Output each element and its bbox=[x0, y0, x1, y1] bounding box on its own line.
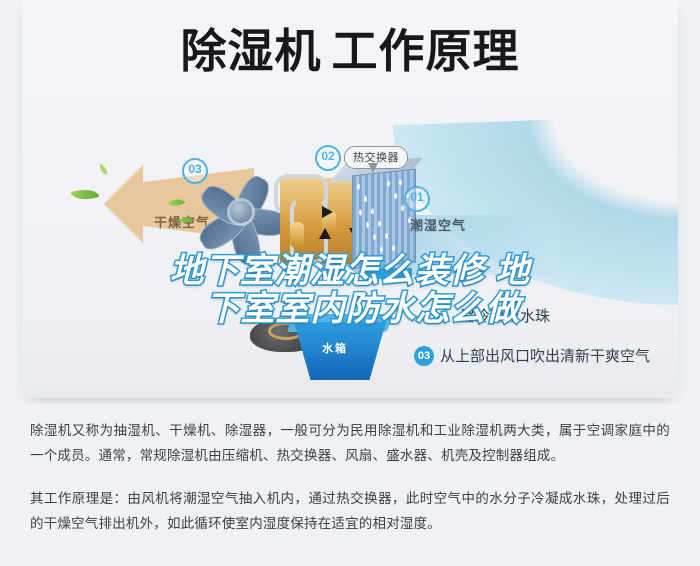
humid-air-label: 潮湿空气 bbox=[410, 215, 466, 234]
coil-cylinder bbox=[290, 222, 304, 248]
leaf-icon bbox=[71, 184, 100, 204]
heat-exchanger-fins bbox=[352, 169, 416, 270]
dehumidifier-infographic: 除湿机工作原理 干燥空气 热交换器 03 02 0 bbox=[0, 0, 700, 404]
article-paragraph-2: 其工作原理是：由风机将潮湿空气抽入机内，通过热交换器，此时空气中的水分子冷凝成水… bbox=[30, 486, 670, 536]
condensation-droplet bbox=[380, 246, 383, 252]
condensation-droplet bbox=[392, 245, 395, 251]
condensation-droplet bbox=[378, 220, 381, 226]
condensation-droplet bbox=[385, 233, 388, 239]
article-body: 除湿机又称为抽湿机、干燥机、除湿器，一般可分为民用除湿机和工业除湿机两大类，属于… bbox=[0, 418, 700, 554]
water-tank-label: 水箱 bbox=[322, 340, 348, 356]
step-3-caption-text: 从上部出风口吹出清新干爽空气 bbox=[440, 345, 650, 366]
step-badge-03: 03 bbox=[182, 158, 208, 184]
step-badge-01: 01 bbox=[404, 186, 430, 212]
page-title: 除湿机工作原理 bbox=[22, 28, 678, 74]
flow-arrow-up-icon bbox=[319, 228, 331, 239]
title-part-2: 工作原理 bbox=[332, 25, 520, 77]
condensation-droplet bbox=[371, 208, 374, 214]
callout-pointer-icon bbox=[368, 163, 378, 173]
step-3-caption: 03 从上部出风口吹出清新干爽空气 bbox=[414, 345, 650, 366]
article-paragraph-1: 除湿机又称为抽湿机、干燥机、除湿器，一般可分为民用除湿机和工业除湿机两大类，属于… bbox=[30, 418, 670, 468]
condensation-droplet bbox=[387, 180, 390, 186]
step-badge-03-filled: 03 bbox=[414, 346, 434, 366]
condensation-droplet bbox=[359, 209, 362, 215]
step-2-caption: 器冷凝成水珠 bbox=[460, 305, 550, 326]
step-badge-02: 02 bbox=[315, 145, 341, 171]
condensation-droplet bbox=[373, 234, 376, 240]
air-inlet-arrow-icon bbox=[378, 268, 412, 279]
leaf-icon bbox=[97, 164, 110, 176]
condensation-droplet bbox=[401, 205, 404, 211]
condensation-droplet bbox=[366, 222, 369, 228]
flow-arrow-right-icon bbox=[322, 206, 333, 218]
condensation-droplet bbox=[357, 184, 360, 190]
condensation-droplet bbox=[394, 193, 397, 199]
fan-hub bbox=[230, 201, 252, 223]
infographic-canvas: 除湿机工作原理 干燥空气 热交换器 03 02 0 bbox=[22, 0, 678, 398]
condensation-droplet bbox=[399, 179, 402, 185]
title-part-1: 除湿机 bbox=[181, 25, 322, 77]
condensation-droplet bbox=[364, 196, 367, 202]
